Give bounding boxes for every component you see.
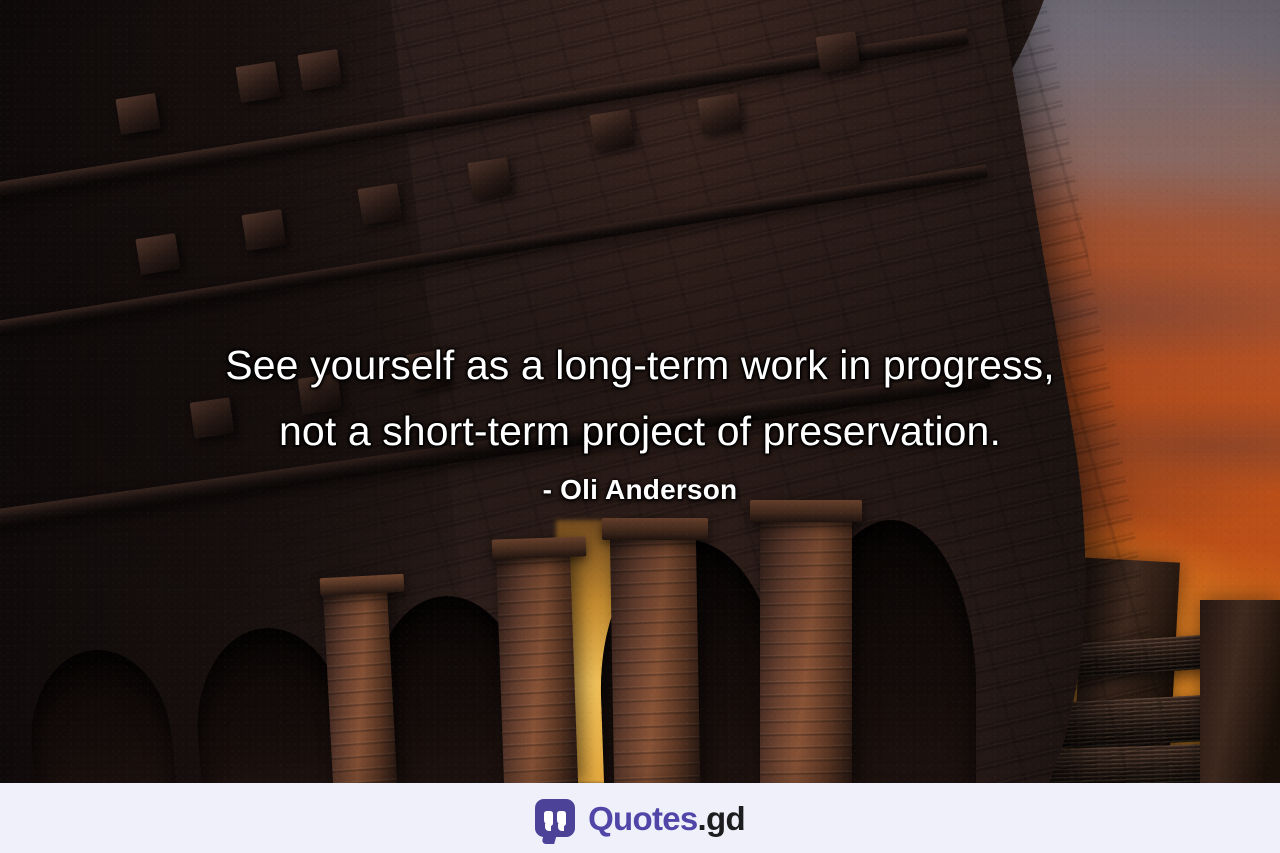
quote-line-1: See yourself as a long-term work in prog… [0, 332, 1280, 398]
quote-author: - Oli Anderson [0, 474, 1280, 506]
brand-logo[interactable]: Quotes.gd [535, 799, 745, 837]
quote-bubble-icon [535, 799, 575, 837]
site-footer: Quotes.gd [0, 783, 1280, 853]
quote-line-2: not a short-term project of preservation… [0, 398, 1280, 464]
brand-wordmark: Quotes.gd [588, 802, 745, 835]
quote-card: See yourself as a long-term work in prog… [0, 0, 1280, 853]
brand-name-suffix: .gd [698, 800, 745, 837]
quote-text: See yourself as a long-term work in prog… [0, 332, 1280, 464]
quote-marks-glyph [544, 811, 566, 826]
brand-name-primary: Quotes [588, 800, 697, 837]
